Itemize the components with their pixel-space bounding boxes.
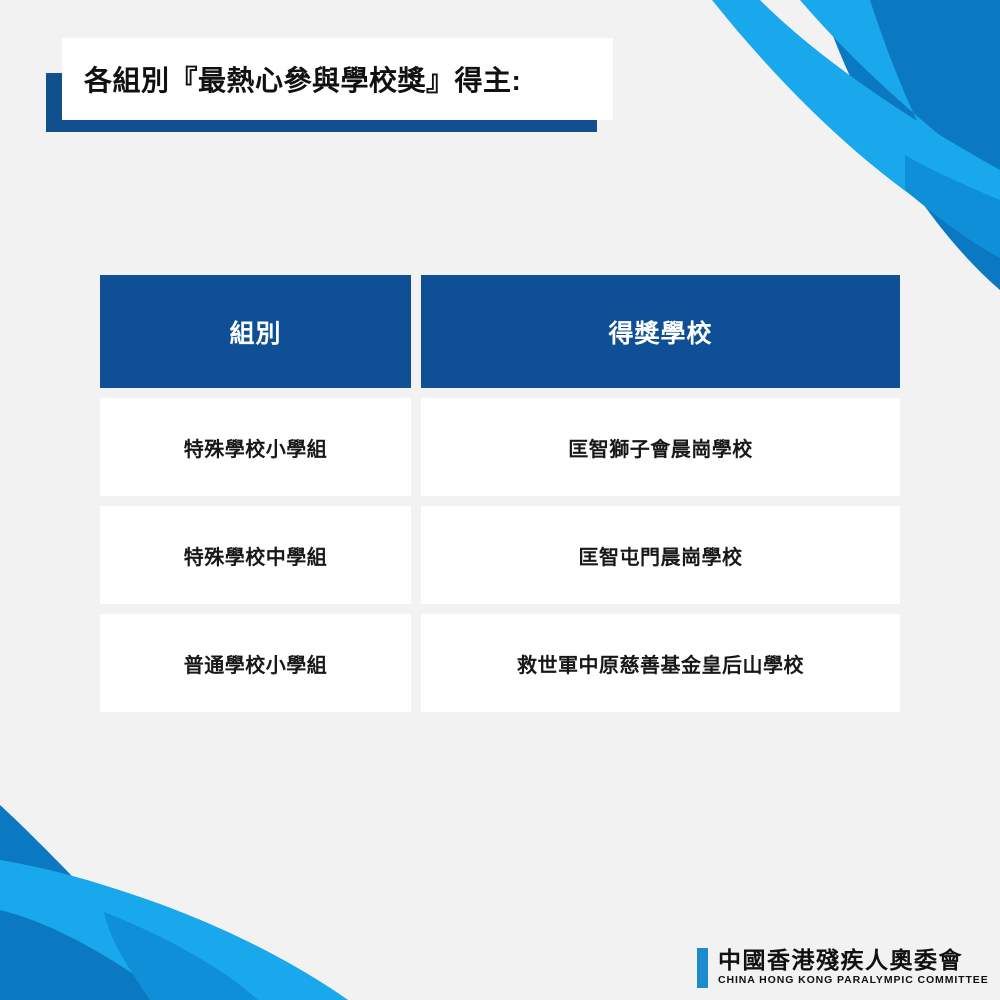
table-header-group: 組別 — [100, 275, 411, 388]
table-header-row: 組別 得獎學校 — [100, 275, 900, 388]
page-title: 各組別『最熱心參與學校獎』得主: — [84, 59, 521, 99]
logo-chinese-name: 中國香港殘疾人奧委會 — [718, 948, 989, 972]
ribbon-bottom-dark-2 — [112, 978, 270, 1000]
table-cell-group-label: 普通學校小學組 — [184, 649, 328, 678]
ribbon-top-dark — [838, 0, 1000, 290]
table-row: 特殊學校小學組 匡智獅子會晨崗學校 — [100, 398, 900, 496]
ribbon-bottom-overlap — [104, 912, 258, 1000]
table-row: 普通學校小學組 救世軍中原慈善基金皇后山學校 — [100, 614, 900, 712]
ribbon-top-light-2 — [712, 0, 1000, 250]
table-cell-school-label: 匡智屯門晨崗學校 — [579, 541, 743, 570]
logo-english-name: CHINA HONG KONG PARALYMPIC COMMITTEE — [718, 974, 989, 988]
table-header-school-label: 得獎學校 — [608, 314, 712, 350]
table-cell-group: 普通學校小學組 — [100, 614, 411, 712]
table-cell-school: 匡智屯門晨崗學校 — [421, 506, 900, 604]
table-cell-school-label: 救世軍中原慈善基金皇后山學校 — [517, 649, 804, 678]
ribbon-top-light — [712, 0, 1000, 258]
ribbon-bottom-light-2 — [0, 862, 348, 1000]
table-cell-school: 救世軍中原慈善基金皇后山學校 — [421, 614, 900, 712]
ribbon-top-dark-2 — [820, 0, 1000, 290]
table-cell-school: 匡智獅子會晨崗學校 — [421, 398, 900, 496]
table-row: 特殊學校中學組 匡智屯門晨崗學校 — [100, 506, 900, 604]
ribbon-bottom-light — [0, 860, 335, 1000]
table-cell-group: 特殊學校中學組 — [100, 506, 411, 604]
ribbon-bottom-dark — [0, 805, 196, 1000]
organization-logo: 中國香港殘疾人奧委會 CHINA HONG KONG PARALYMPIC CO… — [697, 948, 989, 988]
table-cell-school-label: 匡智獅子會晨崗學校 — [568, 433, 753, 462]
awards-table: 組別 得獎學校 特殊學校小學組 匡智獅子會晨崗學校 特殊學校中學組 匡智屯門晨崗… — [100, 275, 900, 722]
table-header-group-label: 組別 — [229, 314, 281, 350]
table-header-school: 得獎學校 — [421, 275, 900, 388]
logo-bar-icon — [697, 948, 708, 988]
table-cell-group: 特殊學校小學組 — [100, 398, 411, 496]
table-cell-group-label: 特殊學校小學組 — [184, 433, 328, 462]
ribbon-top-overlap — [905, 155, 1000, 258]
ribbon-bottom-dark-3 — [104, 912, 245, 1000]
table-cell-group-label: 特殊學校中學組 — [184, 541, 328, 570]
logo-text-block: 中國香港殘疾人奧委會 CHINA HONG KONG PARALYMPIC CO… — [708, 948, 989, 988]
title-banner: 各組別『最熱心參與學校獎』得主: — [62, 38, 613, 120]
